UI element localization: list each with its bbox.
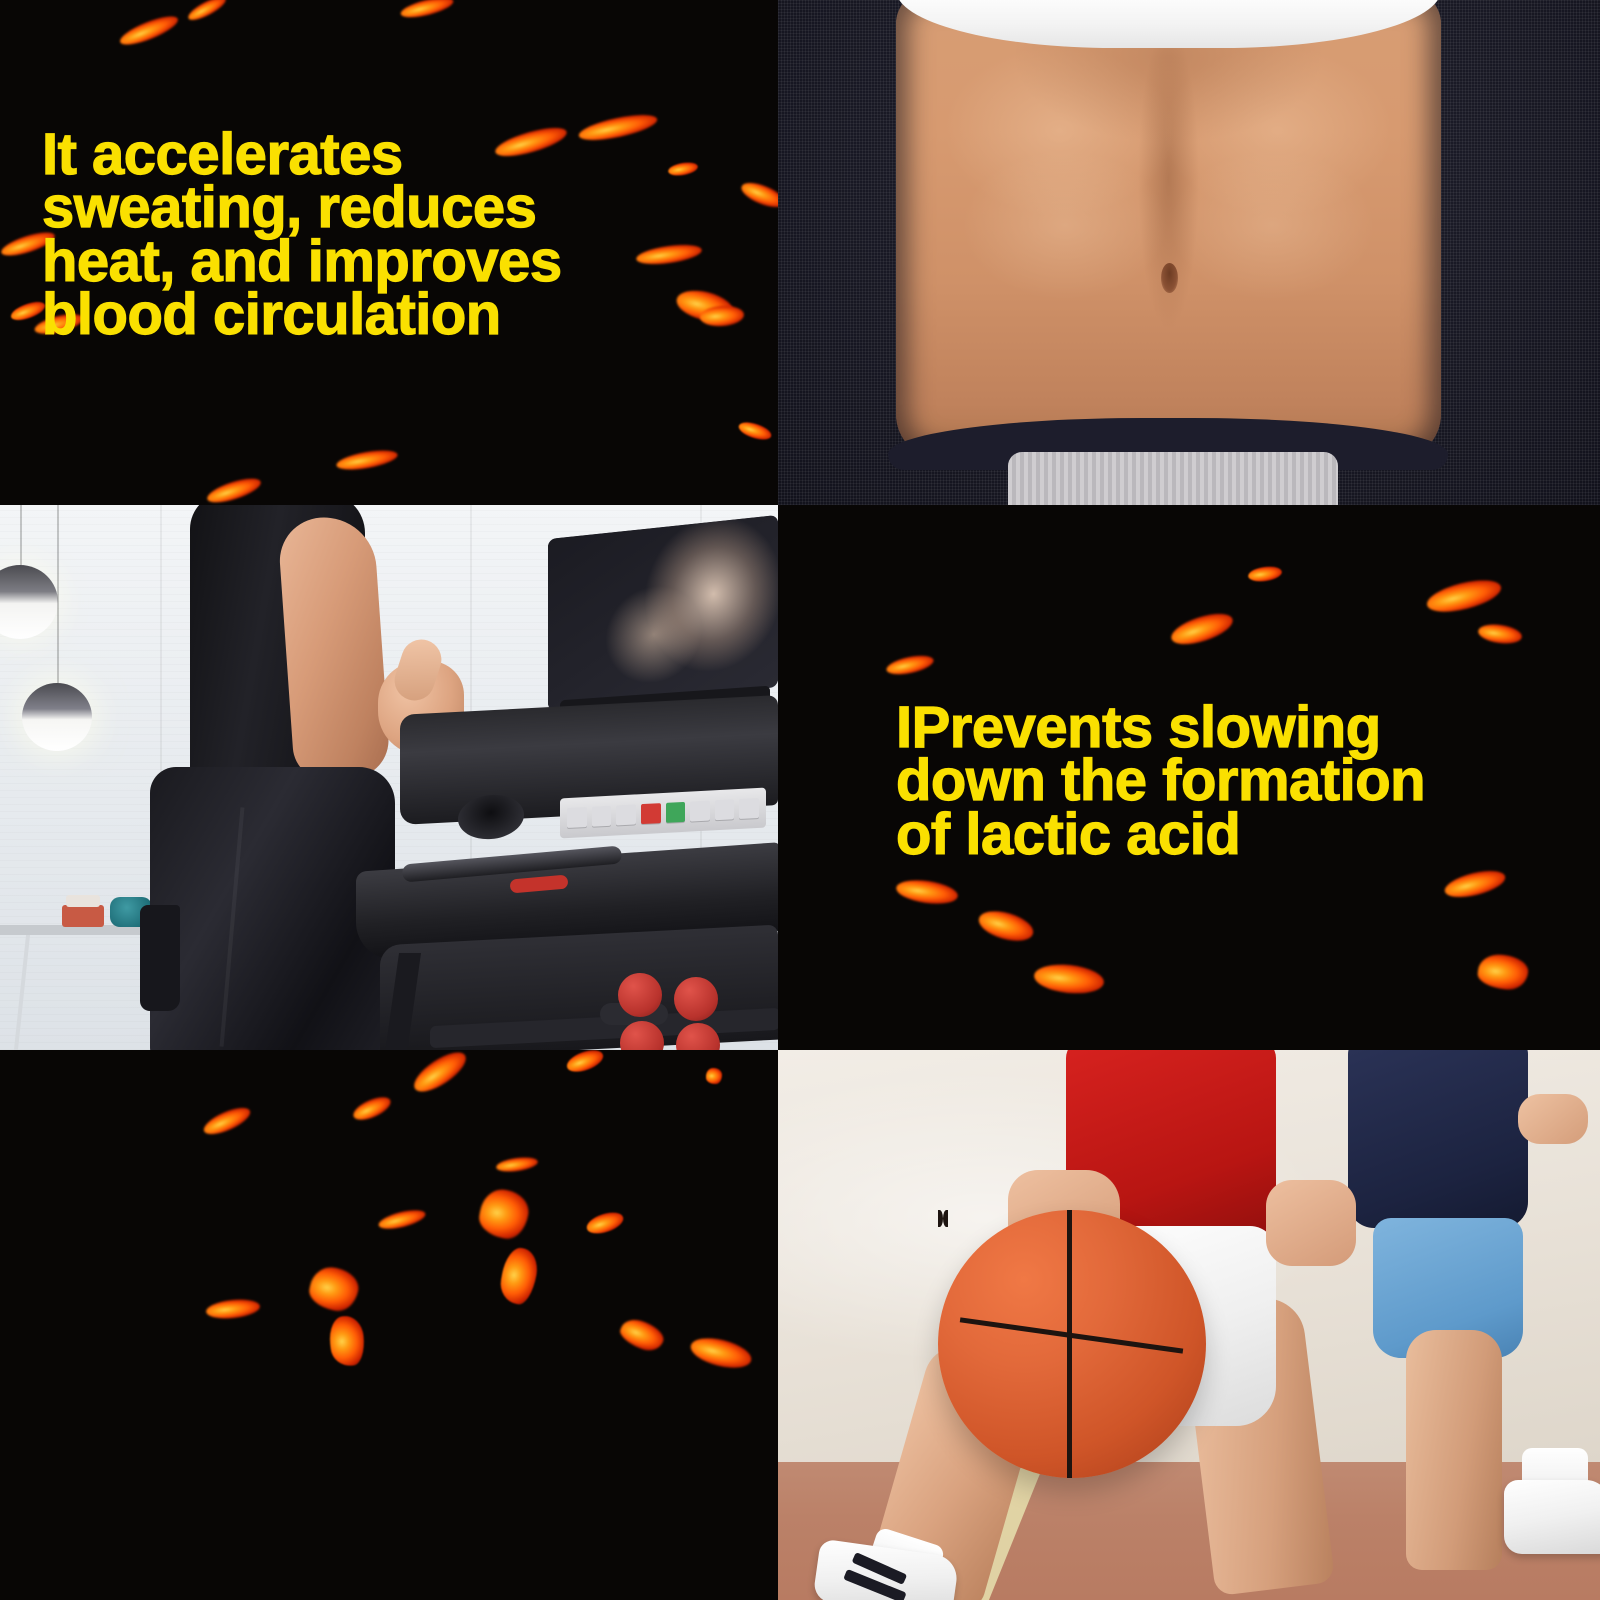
treadmill-screen-image (548, 515, 778, 711)
fire-ember-spark (1476, 952, 1529, 991)
defender-shoe (1504, 1480, 1600, 1554)
fire-ember-spark (201, 1103, 254, 1140)
fire-ember-spark (1168, 608, 1236, 651)
abdomen-torso (896, 0, 1441, 460)
treadmill-start-key[interactable] (666, 802, 686, 823)
fire-ember-spark (688, 1333, 754, 1373)
panel-top-left: It accelerates sweating, reduces heat, a… (0, 0, 778, 505)
dumbbell-rack (618, 973, 748, 1050)
fire-ember-spark (497, 1245, 540, 1306)
fire-ember-spark (617, 1315, 668, 1356)
fire-ember-spark (667, 160, 699, 177)
basketball-seam (1067, 1210, 1072, 1478)
basketball-seam (960, 1318, 1184, 1354)
fire-ember-spark (895, 877, 959, 907)
shorts-fold (220, 807, 245, 1046)
fire-ember-spark (335, 447, 399, 474)
fire-ember-spark (737, 419, 774, 443)
fire-ember-spark (577, 110, 659, 145)
treadmill-screen (548, 515, 778, 711)
ember-field-bottom-left (0, 1050, 778, 1600)
fire-ember-spark (1033, 961, 1106, 996)
fire-ember-spark (1247, 565, 1283, 584)
fire-ember-spark (476, 1186, 532, 1242)
grey-waistband (1008, 452, 1338, 505)
fire-ember-spark (185, 0, 228, 24)
treadmill-key[interactable] (715, 799, 735, 820)
panel-middle-right: IPrevents slowing down the formation of … (778, 505, 1600, 1050)
collage-board: It accelerates sweating, reduces heat, a… (0, 0, 1600, 1600)
treadmill-key[interactable] (592, 806, 612, 827)
shelf-item-towel (66, 895, 100, 907)
treadmill-stop-key[interactable] (641, 803, 661, 824)
fire-ember-spark (1477, 622, 1523, 646)
treadmill-key[interactable] (567, 807, 587, 828)
treadmill-key[interactable] (690, 801, 710, 822)
fire-ember-spark (377, 1206, 427, 1232)
background-player-arm (1518, 1094, 1588, 1144)
defender-navy-jersey (1348, 1050, 1528, 1228)
fire-ember-spark (584, 1209, 626, 1238)
shorts-side-tab (140, 905, 180, 1011)
defender-hand (1266, 1180, 1356, 1266)
fire-ember-spark (1442, 866, 1507, 902)
treadmill-key[interactable] (616, 804, 636, 825)
headline-accelerates-sweating: It accelerates sweating, reduces heat, a… (42, 128, 562, 341)
fire-ember-spark (738, 178, 778, 212)
fire-ember-spark (1424, 574, 1504, 618)
basketball-seam (943, 1210, 948, 1227)
fire-ember-spark (495, 1155, 538, 1174)
panel-bottom-right-basketball-photo (778, 1050, 1600, 1600)
treadmill-key[interactable] (739, 798, 759, 819)
fire-ember-spark (706, 1068, 722, 1084)
fire-ember-spark (205, 1297, 261, 1321)
runner-arm (277, 514, 391, 782)
fire-ember-spark (399, 0, 455, 21)
fire-ember-spark (327, 1314, 366, 1367)
panel-top-right-abdomen-photo (778, 0, 1600, 505)
fire-ember-spark (205, 474, 264, 505)
fire-ember-spark (564, 1050, 606, 1076)
fire-ember-spark (635, 241, 703, 267)
panel-middle-left-treadmill-photo (0, 505, 778, 1050)
panel-bottom-left: Extend exercise time and shorten recover… (0, 1050, 778, 1600)
navel (1161, 263, 1178, 293)
fire-ember-spark (885, 652, 935, 678)
shelf-item-box (62, 905, 104, 927)
basketball-icon (938, 1210, 1206, 1478)
pendant-lamp-icon (22, 683, 92, 751)
headline-prevents-lactic-acid: IPrevents slowing down the formation of … (896, 701, 1425, 861)
fire-ember-spark (408, 1050, 471, 1099)
defender-leg (1406, 1330, 1502, 1570)
fire-ember-spark (117, 11, 181, 50)
fire-ember-spark (306, 1263, 362, 1314)
fire-ember-spark (976, 906, 1037, 946)
fire-ember-spark (350, 1093, 393, 1125)
